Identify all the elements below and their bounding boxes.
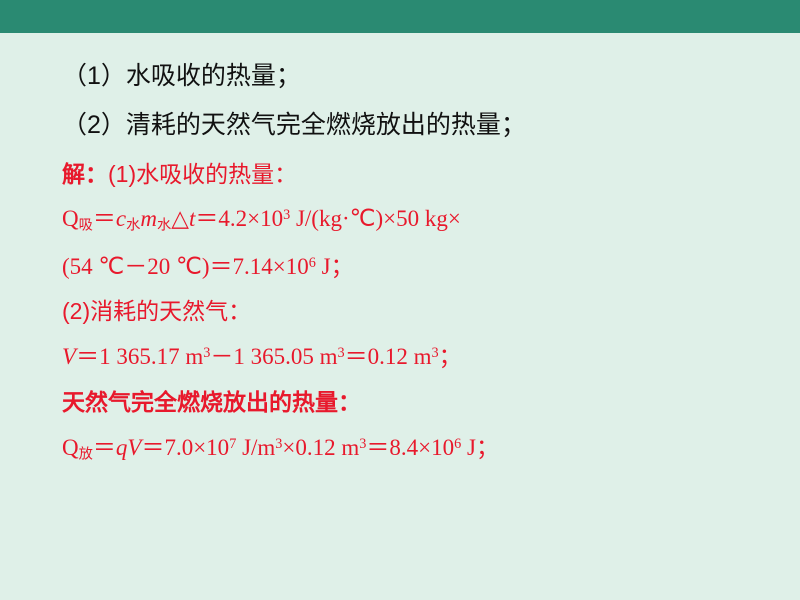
- eq1-degree-celsius: ℃: [350, 206, 376, 231]
- eq3-result: 8.4×10: [389, 435, 454, 460]
- eq2-value3-exponent: 3: [431, 345, 438, 361]
- eq2-symbol: V: [62, 344, 76, 369]
- answer-equation-3: Q放＝qV＝7.0×107 J/m3×0.12 m3＝8.4×106 J；: [62, 433, 760, 464]
- slide-content: （1）水吸收的热量； （2）清耗的天然气完全燃烧放出的热量； 解：(1)水吸收的…: [0, 33, 800, 480]
- eq2-end: ；: [439, 343, 462, 369]
- eq1-c-sub: 水: [126, 218, 140, 234]
- eq1c-degree-celsius-1: ℃: [98, 254, 124, 279]
- eq1c-unit: J；: [316, 254, 354, 279]
- eq1c-result: 7.14×10: [233, 254, 309, 279]
- answer-equation-2: V＝1 365.17 m3－1 365.05 m3＝0.12 m3；: [62, 342, 760, 372]
- answer-head-label: 解：: [62, 161, 108, 187]
- eq2-value2: 1 365.05 m: [233, 344, 337, 369]
- eq3-symbol: Q: [62, 435, 79, 460]
- question-1: （1）水吸收的热量；: [62, 61, 760, 92]
- eq1c-degree-celsius-2: ℃: [176, 254, 202, 279]
- eq3-equals: ＝: [93, 434, 116, 460]
- eq2-equals: ＝: [76, 343, 99, 369]
- eq1c-equals: ＝: [210, 253, 233, 279]
- eq3-value: 7.0×10: [164, 435, 229, 460]
- question-2: （2）清耗的天然气完全燃烧放出的热量；: [62, 110, 760, 141]
- answer-part1-text: (1)水吸收的热量：: [108, 161, 297, 187]
- eq3-result-unit: J；: [461, 435, 499, 460]
- eq1c-close: ): [202, 254, 210, 279]
- eq1-unit1: J/(kg·: [290, 206, 349, 231]
- eq1-unit1-end: )×50 kg×: [375, 206, 460, 231]
- eq1c-result-exponent: 6: [309, 255, 316, 271]
- eq1c-minus: －: [124, 253, 147, 279]
- eq1-delta: △: [171, 205, 189, 231]
- eq1-c: c: [116, 206, 126, 231]
- eq3-q: q: [116, 435, 128, 460]
- eq1-equals-2: ＝: [195, 205, 218, 231]
- slide: （1）水吸收的热量； （2）清耗的天然气完全燃烧放出的热量； 解：(1)水吸收的…: [0, 0, 800, 600]
- eq3-equals-2: ＝: [141, 434, 164, 460]
- eq3-v: V: [127, 435, 141, 460]
- answer-part1-title: 解：(1)水吸收的热量：: [62, 160, 760, 189]
- eq1c-open: (54: [62, 254, 98, 279]
- answer-part2-title: (2)消耗的天然气：: [62, 297, 760, 326]
- eq1-symbol-sub: 吸: [79, 218, 93, 234]
- answer-part3-title: 天然气完全燃烧放出的热量：: [62, 388, 760, 417]
- eq1-equals: ＝: [93, 205, 116, 231]
- eq3-equals-3: ＝: [366, 434, 389, 460]
- eq1-m-sub: 水: [157, 218, 171, 234]
- answer-equation-1-continued: (54 ℃－20 ℃)＝7.14×106 J；: [62, 252, 760, 282]
- eq3-symbol-sub: 放: [79, 446, 93, 462]
- eq1-symbol: Q: [62, 206, 79, 231]
- eq2-equals-2: ＝: [345, 343, 368, 369]
- answer-equation-1: Q吸＝c水m水△t＝4.2×103 J/(kg·℃)×50 kg×: [62, 204, 760, 235]
- eq1c-value2: 20: [147, 254, 176, 279]
- eq2-value3: 0.12 m: [368, 344, 432, 369]
- eq3-times: ×0.12 m: [282, 435, 359, 460]
- top-decoration-bar: [0, 0, 800, 33]
- eq1-m: m: [140, 206, 157, 231]
- eq2-value2-exponent: 3: [337, 345, 344, 361]
- eq2-minus: －: [210, 343, 233, 369]
- eq3-unit: J/m: [236, 435, 275, 460]
- eq2-value1: 1 365.17 m: [99, 344, 203, 369]
- eq1-value1: 4.2×10: [218, 206, 283, 231]
